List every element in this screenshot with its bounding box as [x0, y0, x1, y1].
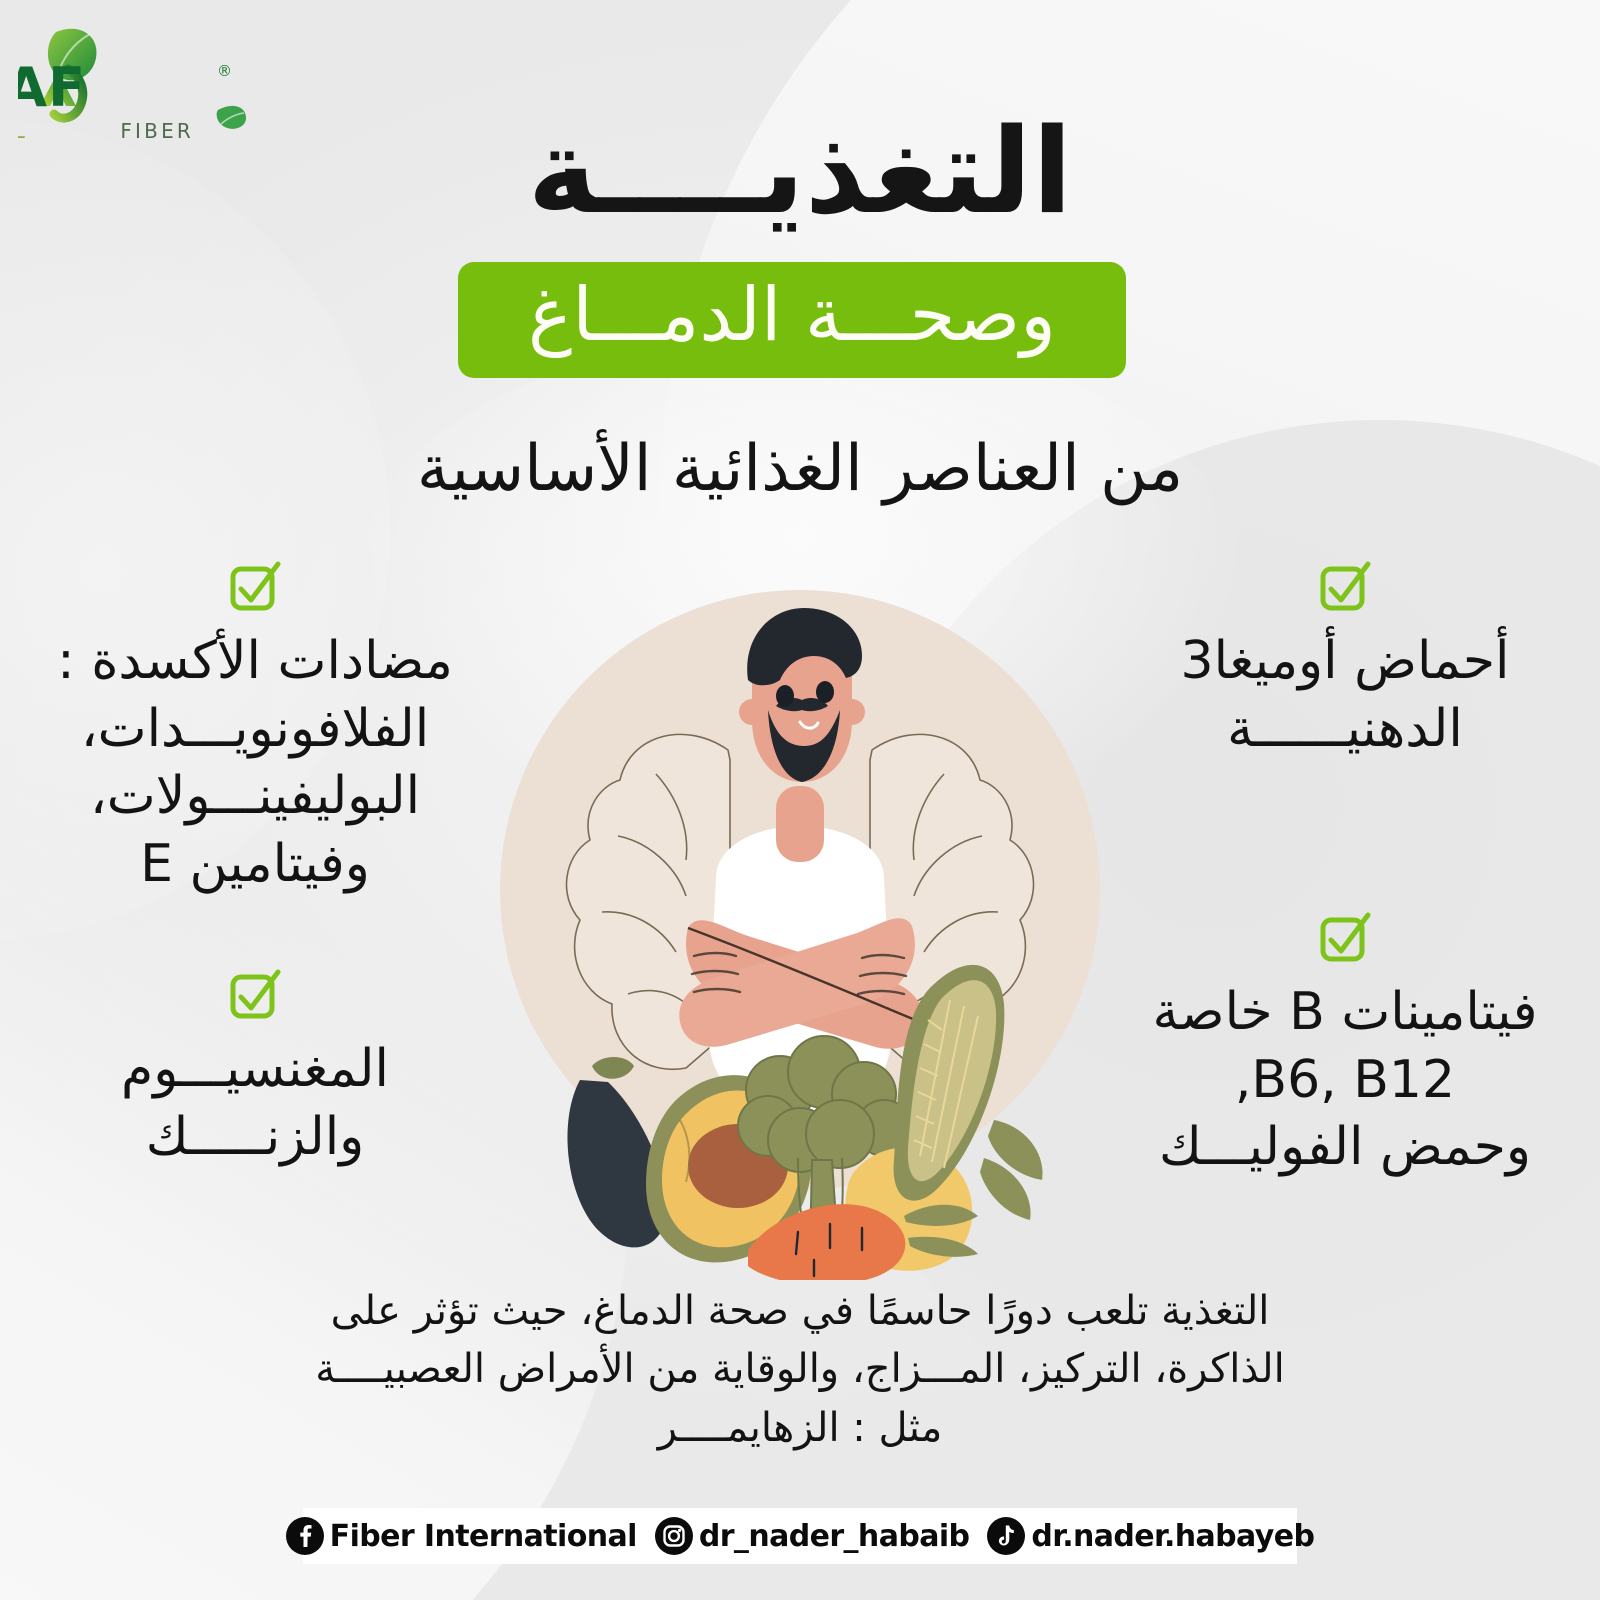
instagram-icon [655, 1517, 693, 1555]
facebook-icon [286, 1517, 324, 1555]
man-with-brain-and-vegetables-illustration [480, 560, 1120, 1280]
checkbox-checked-icon [1318, 560, 1372, 614]
bullet-column-right: أحماض أوميغا3 الدهنيــــــة فيتامينات B … [1110, 560, 1580, 1204]
subtitle-banner: وصحـــة الدمـــاغ [458, 262, 1126, 378]
bullet-minerals-label: المغنسيـــوم والزنـــــك [20, 1036, 490, 1171]
checkbox-checked-icon [228, 968, 282, 1022]
tiktok-icon [987, 1517, 1025, 1555]
instagram-handle: dr_nader_habaib [699, 1519, 970, 1554]
infographic-poster: LYAF ® INTERNATIONAL FIBER التغذيــــة و… [0, 0, 1600, 1600]
social-account-instagram[interactable]: dr_nader_habaib [655, 1517, 970, 1555]
svg-text:LYAF: LYAF [18, 56, 86, 119]
social-account-tiktok[interactable]: dr.nader.habayeb [987, 1517, 1314, 1555]
neck [776, 786, 824, 862]
bullet-column-left: مضادات الأكسدة : الفلافونويـــدات، البول… [20, 560, 490, 1194]
bullet-omega3: أحماض أوميغا3 الدهنيــــــة [1110, 560, 1580, 763]
tiktok-handle: dr.nader.habayeb [1031, 1519, 1314, 1554]
bullet-antioxidants-label: مضادات الأكسدة : الفلافونويـــدات، البول… [20, 628, 490, 898]
eye-left [776, 685, 794, 707]
facebook-handle: Fiber International [330, 1519, 637, 1554]
bullet-antioxidants: مضادات الأكسدة : الفلافونويـــدات، البول… [20, 560, 490, 898]
svg-text:®: ® [217, 62, 232, 80]
page-title: التغذيــــة [0, 112, 1600, 230]
eye-right [816, 681, 834, 703]
social-footer-bar: Fiber International dr_nader_habaib dr.n… [303, 1508, 1297, 1564]
lede-text: من العناصر الغذائية الأساسية [0, 432, 1600, 508]
bullet-b-vitamins-label: فيتامينات B خاصة B6, B12, وحمض الفوليـــ… [1110, 979, 1580, 1182]
social-account-facebook[interactable]: Fiber International [286, 1517, 637, 1555]
bullet-b-vitamins: فيتامينات B خاصة B6, B12, وحمض الفوليـــ… [1110, 911, 1580, 1182]
body-paragraph: التغذية تلعب دورًا حاسمًا في صحة الدماغ،… [170, 1282, 1430, 1457]
checkbox-checked-icon [1318, 911, 1372, 965]
subtitle-banner-text: وصحـــة الدمـــاغ [528, 278, 1056, 362]
checkbox-checked-icon [228, 560, 282, 614]
bullet-omega3-label: أحماض أوميغا3 الدهنيــــــة [1110, 628, 1580, 763]
bullet-minerals: المغنسيـــوم والزنـــــك [20, 968, 490, 1171]
